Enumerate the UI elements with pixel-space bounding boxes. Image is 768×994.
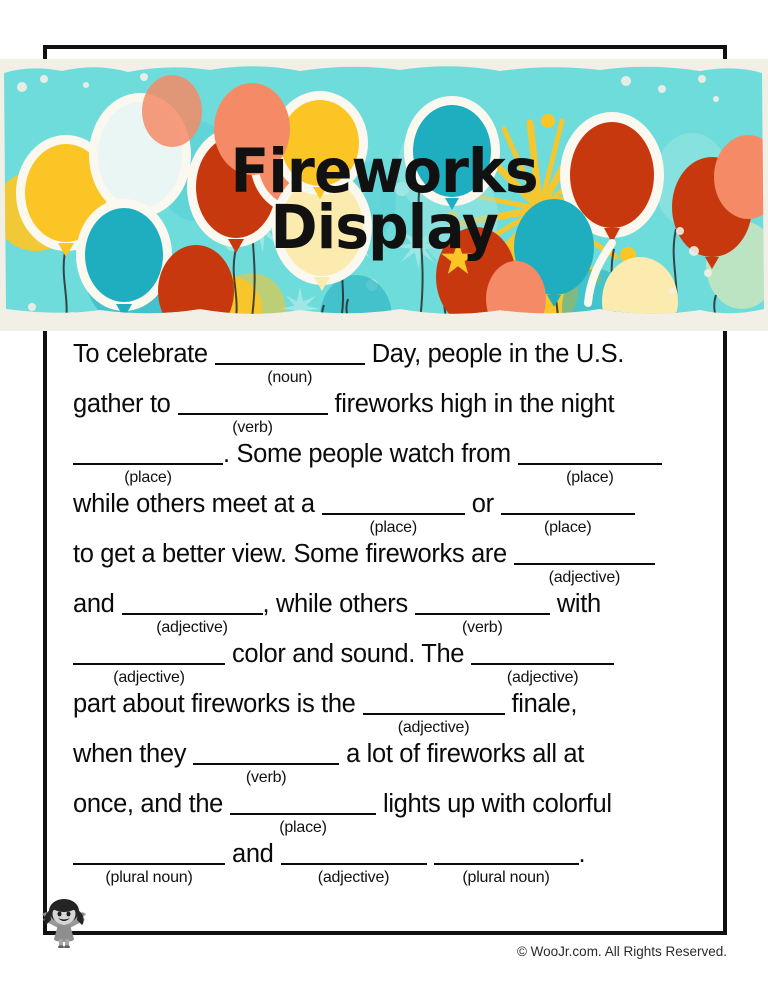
fill-in-blank[interactable]: (adjective) (514, 537, 655, 571)
blank-rule (363, 713, 505, 715)
story-text: Day, people in the U.S. (372, 337, 624, 371)
blank-hint: (verb) (415, 619, 550, 637)
story-text: , while others (263, 587, 408, 621)
madlib-line: when they(verb)a lot of fireworks all at (73, 737, 699, 787)
story-text: . (579, 837, 586, 871)
woojr-girl-mascot-icon (38, 898, 90, 948)
story-text: or (472, 487, 494, 521)
blank-hint: (place) (73, 469, 223, 487)
fill-in-blank[interactable]: (adjective) (281, 837, 427, 871)
blank-rule (434, 863, 579, 865)
story-text: with (557, 587, 601, 621)
story-text: when they (73, 737, 186, 771)
story-text: fireworks high in the night (335, 387, 615, 421)
story-text: . Some people watch from (223, 437, 511, 471)
fill-in-blank[interactable]: (noun) (215, 337, 365, 371)
fill-in-blank[interactable]: (place) (73, 437, 223, 471)
fill-in-blank[interactable]: (verb) (193, 737, 339, 771)
blank-hint: (adjective) (363, 719, 505, 737)
copyright-text: © WooJr.com. All Rights Reserved. (517, 944, 727, 959)
blank-hint: (adjective) (281, 869, 427, 887)
blank-hint: (plural noun) (434, 869, 579, 887)
story-text: and (73, 587, 115, 621)
banner-illustration (0, 59, 768, 331)
story-text: part about fireworks is the (73, 687, 356, 721)
fill-in-blank[interactable]: (adjective) (122, 587, 263, 621)
blank-rule (230, 813, 376, 815)
madlib-line: (adjective)color and sound. The(adjectiv… (73, 637, 699, 687)
blank-rule (73, 663, 225, 665)
blank-rule (281, 863, 427, 865)
blank-rule (518, 463, 662, 465)
blank-hint: (place) (322, 519, 465, 537)
blank-rule (322, 513, 465, 515)
blank-rule (514, 563, 655, 565)
blank-hint: (place) (518, 469, 662, 487)
madlib-line: To celebrate(noun)Day, people in the U.S… (73, 337, 699, 387)
blank-rule (122, 613, 263, 615)
blank-hint: (adjective) (471, 669, 614, 687)
header-banner: Fireworks Display (0, 59, 768, 331)
madlib-line: to get a better view. Some fireworks are… (73, 537, 699, 587)
fill-in-blank[interactable]: (plural noun) (434, 837, 579, 871)
madlib-story: To celebrate(noun)Day, people in the U.S… (47, 331, 723, 931)
blank-hint: (verb) (178, 419, 328, 437)
blank-rule (193, 763, 339, 765)
story-text: once, and the (73, 787, 223, 821)
fill-in-blank[interactable]: (place) (230, 787, 376, 821)
madlib-line: while others meet at a(place)or(place) (73, 487, 699, 537)
blank-hint: (place) (230, 819, 376, 837)
fill-in-blank[interactable]: (verb) (415, 587, 550, 621)
story-text: To celebrate (73, 337, 208, 371)
blank-rule (471, 663, 614, 665)
fill-in-blank[interactable]: (place) (518, 437, 662, 471)
madlib-line: (place). Some people watch from(place) (73, 437, 699, 487)
madlib-line: (plural noun)and(adjective)(plural noun)… (73, 837, 699, 887)
fill-in-blank[interactable]: (adjective) (363, 687, 505, 721)
story-text: while others meet at a (73, 487, 315, 521)
story-text: lights up with colorful (383, 787, 612, 821)
story-text: gather to (73, 387, 171, 421)
blank-rule (178, 413, 328, 415)
fill-in-blank[interactable]: (adjective) (73, 637, 225, 671)
madlib-line: once, and the(place)lights up with color… (73, 787, 699, 837)
fill-in-blank[interactable]: (adjective) (471, 637, 614, 671)
blank-hint: (adjective) (122, 619, 263, 637)
story-text: finale, (512, 687, 578, 721)
madlib-line: gather to(verb)fireworks high in the nig… (73, 387, 699, 437)
blank-hint: (adjective) (514, 569, 655, 587)
blank-hint: (verb) (193, 769, 339, 787)
story-text: a lot of fireworks all at (346, 737, 584, 771)
fill-in-blank[interactable]: (verb) (178, 387, 328, 421)
story-text: to get a better view. Some fireworks are (73, 537, 507, 571)
blank-rule (73, 863, 225, 865)
madlib-line: part about fireworks is the(adjective)fi… (73, 687, 699, 737)
blank-rule (73, 463, 223, 465)
madlib-line: and(adjective), while others(verb)with (73, 587, 699, 637)
blank-hint: (adjective) (73, 669, 225, 687)
blank-rule (501, 513, 635, 515)
blank-hint: (plural noun) (73, 869, 225, 887)
blank-rule (415, 613, 550, 615)
story-text: color and sound. The (232, 637, 464, 671)
fill-in-blank[interactable]: (place) (501, 487, 635, 521)
story-text: and (232, 837, 274, 871)
blank-hint: (noun) (215, 369, 365, 387)
blank-rule (215, 363, 365, 365)
blank-hint: (place) (501, 519, 635, 537)
fill-in-blank[interactable]: (place) (322, 487, 465, 521)
fill-in-blank[interactable]: (plural noun) (73, 837, 225, 871)
